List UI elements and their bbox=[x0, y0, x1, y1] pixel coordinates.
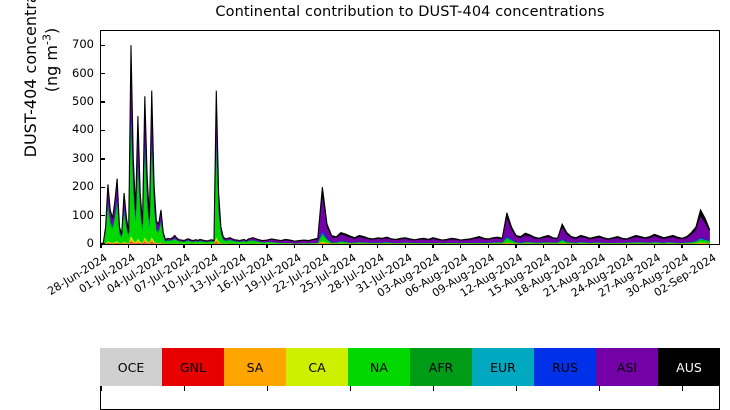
legend-label: NA bbox=[370, 360, 388, 375]
x-tick-mark bbox=[598, 244, 599, 248]
y-tick-mark bbox=[101, 158, 105, 159]
x-tick-mark bbox=[377, 244, 378, 248]
x-tick-mark bbox=[156, 244, 157, 248]
secondary-x-tick-18 bbox=[599, 386, 600, 391]
y-axis-label-units: (ng m-3) bbox=[42, 28, 61, 92]
legend-label: CA bbox=[308, 360, 325, 375]
y-tick-label: 600 bbox=[72, 66, 94, 80]
x-tick-mark bbox=[128, 244, 129, 248]
x-tick-mark bbox=[349, 244, 350, 248]
y-tick-mark bbox=[101, 45, 105, 46]
legend-label: AUS bbox=[676, 360, 702, 375]
area-series-aus bbox=[101, 45, 710, 244]
x-tick-mark bbox=[681, 244, 682, 248]
legend-cell-afr[interactable]: AFR bbox=[410, 348, 472, 386]
x-tick-mark bbox=[322, 244, 323, 248]
y-tick-mark bbox=[101, 73, 105, 74]
x-tick-mark bbox=[571, 244, 572, 248]
secondary-x-tick-6 bbox=[267, 386, 268, 391]
legend-cell-rus[interactable]: RUS bbox=[534, 348, 596, 386]
secondary-x-tick-3 bbox=[184, 386, 185, 391]
y-tick-label: 700 bbox=[72, 37, 94, 51]
legend-cell-aus[interactable]: AUS bbox=[658, 348, 720, 386]
x-tick-mark bbox=[100, 244, 101, 248]
area-series-na bbox=[101, 137, 710, 244]
x-tick-mark bbox=[543, 244, 544, 248]
x-tick-mark bbox=[654, 244, 655, 248]
x-tick-mark bbox=[626, 244, 627, 248]
y-axis-label: DUST-404 concentration (ng m-3) bbox=[21, 0, 61, 185]
legend-cell-gnl[interactable]: GNL bbox=[162, 348, 224, 386]
y-tick-label: 500 bbox=[72, 94, 94, 108]
legend-label: AFR bbox=[429, 360, 453, 375]
x-tick-mark bbox=[709, 244, 710, 248]
x-tick-mark bbox=[183, 244, 184, 248]
x-tick-mark bbox=[239, 244, 240, 248]
x-tick-mark bbox=[211, 244, 212, 248]
secondary-x-tick-21 bbox=[682, 386, 683, 391]
secondary-x-tick-9 bbox=[350, 386, 351, 391]
y-tick-mark bbox=[101, 130, 105, 131]
secondary-axes-frame bbox=[100, 386, 720, 410]
secondary-x-tick-0 bbox=[101, 386, 102, 391]
x-tick-mark bbox=[488, 244, 489, 248]
legend-label: GNL bbox=[180, 360, 206, 375]
y-axis-label-line1: DUST-404 concentration bbox=[21, 0, 40, 157]
x-tick-mark bbox=[294, 244, 295, 248]
legend-cell-oce[interactable]: OCE bbox=[100, 348, 162, 386]
secondary-x-tick-15 bbox=[516, 386, 517, 391]
y-tick-label: 200 bbox=[72, 179, 94, 193]
area-series-rus bbox=[101, 115, 710, 244]
legend-cell-asi[interactable]: ASI bbox=[596, 348, 658, 386]
y-tick-mark bbox=[101, 215, 105, 216]
legend-cell-eur[interactable]: EUR bbox=[472, 348, 534, 386]
total-outline bbox=[101, 45, 710, 243]
x-tick-mark bbox=[405, 244, 406, 248]
y-tick-label: 0 bbox=[87, 236, 94, 250]
legend-cell-na[interactable]: NA bbox=[348, 348, 410, 386]
legend-label: EUR bbox=[490, 360, 516, 375]
chart-page: Continental contribution to DUST-404 con… bbox=[0, 0, 730, 402]
legend-strip: OCEGNLSACANAAFREURRUSASIAUS bbox=[100, 348, 720, 386]
area-series-eur bbox=[101, 120, 710, 244]
y-tick-label: 300 bbox=[72, 151, 94, 165]
legend-label: RUS bbox=[552, 360, 578, 375]
legend-cell-sa[interactable]: SA bbox=[224, 348, 286, 386]
area-series-afr bbox=[101, 124, 710, 244]
secondary-x-tick-12 bbox=[433, 386, 434, 391]
y-tick-mark bbox=[101, 187, 105, 188]
y-tick-label: 400 bbox=[72, 122, 94, 136]
legend-label: OCE bbox=[118, 360, 144, 375]
main-plot-axes: 0100200300400500600700 28-Jun-202401-Jul… bbox=[100, 30, 720, 245]
x-tick-mark bbox=[515, 244, 516, 248]
legend-label: SA bbox=[247, 360, 264, 375]
y-tick-mark bbox=[101, 101, 105, 102]
stacked-area-plot bbox=[101, 31, 719, 244]
legend-label: ASI bbox=[617, 360, 637, 375]
y-tick-label: 100 bbox=[72, 208, 94, 222]
x-tick-mark bbox=[266, 244, 267, 248]
x-tick-mark bbox=[432, 244, 433, 248]
area-series-asi bbox=[101, 55, 710, 244]
legend-cell-ca[interactable]: CA bbox=[286, 348, 348, 386]
chart-title: Continental contribution to DUST-404 con… bbox=[100, 4, 720, 20]
x-tick-mark bbox=[460, 244, 461, 248]
